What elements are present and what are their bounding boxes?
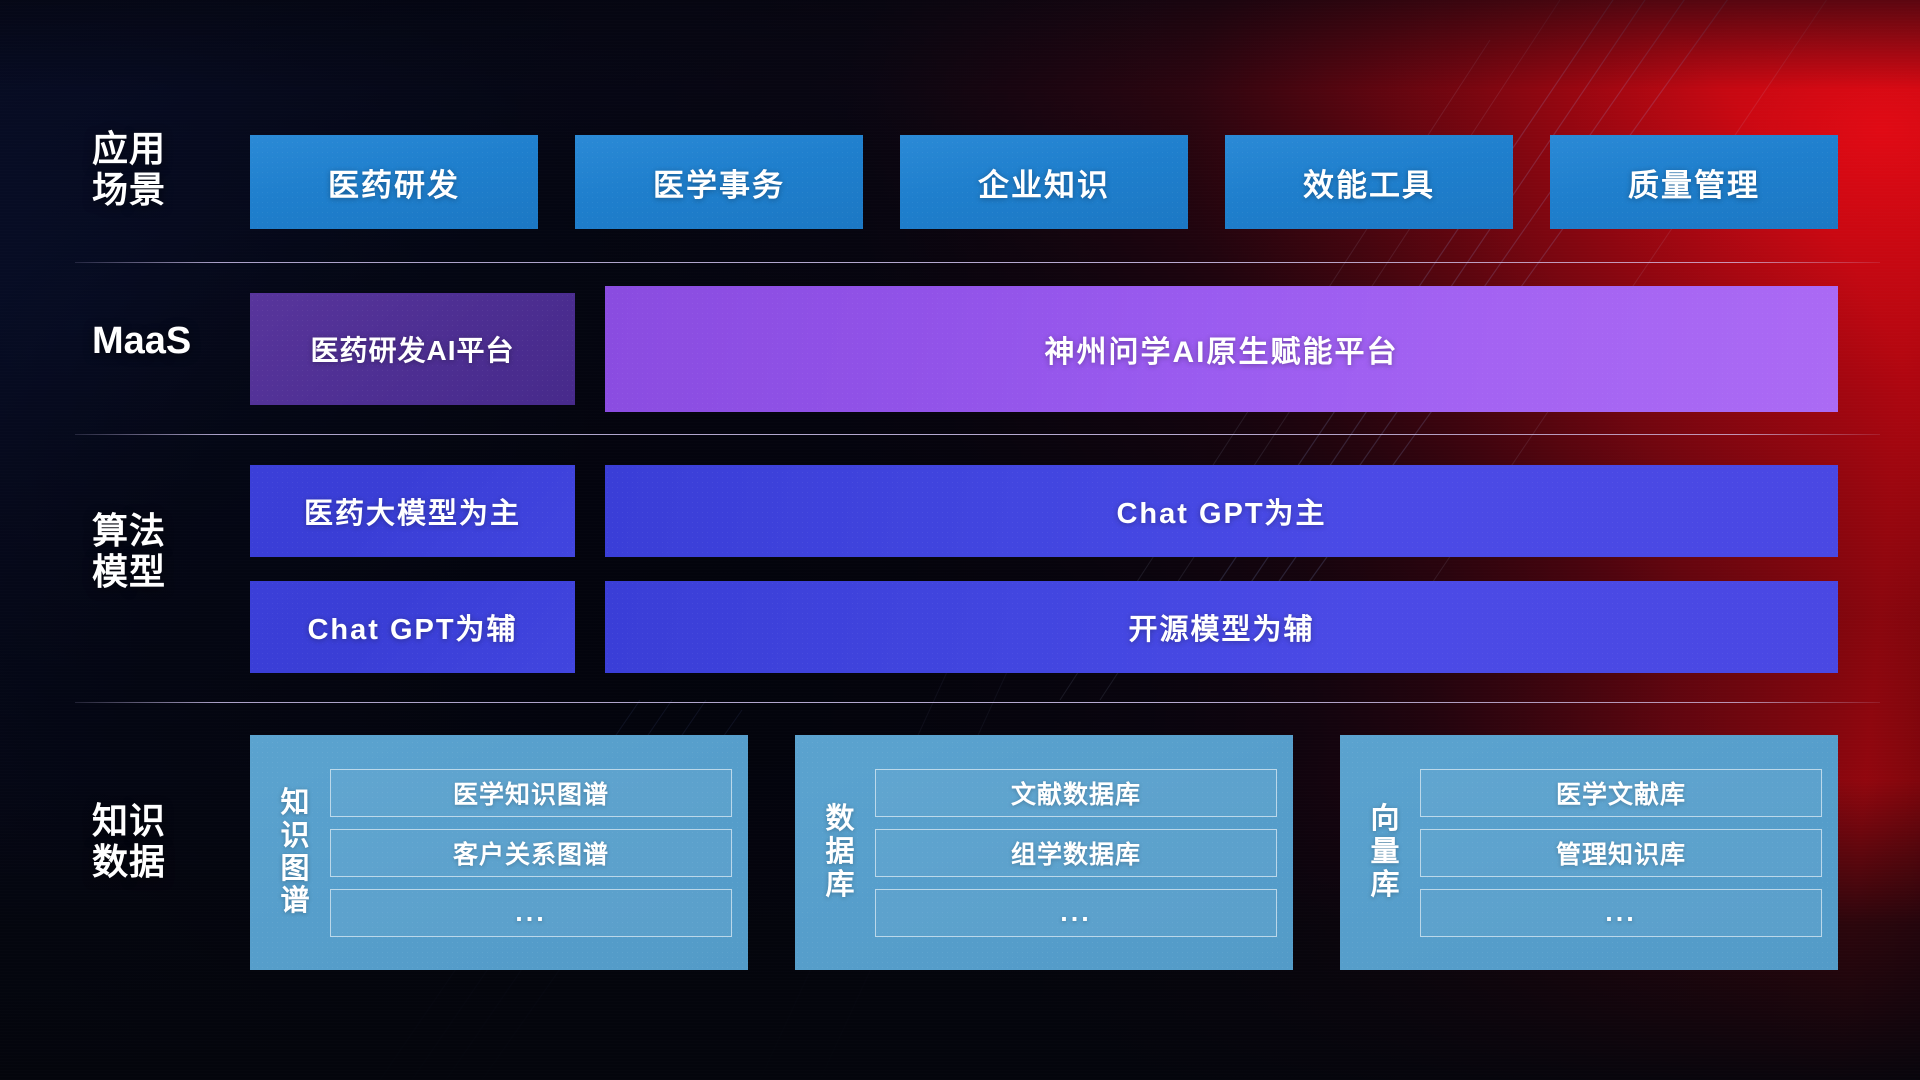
divider-row2-row3: [75, 434, 1880, 435]
row-label-maas-text: MaaS: [92, 320, 272, 363]
knowledge-item-medical-knowledge-graph[interactable]: 医学知识图谱: [330, 769, 732, 817]
diagram-content: 应用 场景 医药研发 医学事务 企业知识 效能工具 质量管理 MaaS 医药研发…: [0, 0, 1920, 1080]
knowledge-group-database-items: 文献数据库 组学数据库 ...: [875, 749, 1277, 956]
scene-card-quality-management-label: 质量管理: [1628, 160, 1760, 205]
knowledge-item-customer-relation-graph-label: 客户关系图谱: [453, 835, 609, 871]
knowledge-item-management-knowledge-db[interactable]: 管理知识库: [1420, 829, 1822, 877]
scene-card-medical-affairs[interactable]: 医学事务: [575, 135, 863, 229]
knowledge-item-medical-knowledge-graph-label: 医学知识图谱: [453, 775, 609, 811]
algo-card-drug-large-model-primary[interactable]: 医药大模型为主: [250, 465, 575, 557]
divider-row1-row2: [75, 262, 1880, 263]
maas-card-shenzhou-wenxue-platform[interactable]: 神州问学AI原生赋能平台: [605, 286, 1838, 412]
knowledge-item-omics-database-label: 组学数据库: [1011, 835, 1141, 871]
knowledge-group-vector-db-title: 向量库: [1364, 803, 1406, 901]
algo-card-chatgpt-secondary-label: Chat GPT为辅: [307, 606, 517, 648]
knowledge-group-vector-db-items: 医学文献库 管理知识库 ...: [1420, 749, 1822, 956]
algo-card-opensource-secondary-label: 开源模型为辅: [1128, 606, 1314, 648]
row-label-application-scenario-line2: 场景: [92, 169, 242, 210]
scene-card-efficiency-tools[interactable]: 效能工具: [1225, 135, 1513, 229]
knowledge-item-vector-db-more-label: ...: [1605, 897, 1637, 928]
row-label-knowledge-data-line1: 知识: [92, 800, 242, 841]
knowledge-item-medical-literature-db[interactable]: 医学文献库: [1420, 769, 1822, 817]
algo-card-drug-large-model-primary-label: 医药大模型为主: [304, 490, 521, 532]
knowledge-group-knowledge-graph-title: 知识图谱: [274, 787, 316, 918]
divider-row3-row4: [75, 702, 1880, 703]
maas-card-drug-rnd-ai-platform-label: 医药研发AI平台: [310, 329, 514, 369]
knowledge-item-medical-literature-db-label: 医学文献库: [1556, 775, 1686, 811]
knowledge-item-database-more-label: ...: [1060, 897, 1092, 928]
knowledge-group-knowledge-graph-items: 医学知识图谱 客户关系图谱 ...: [330, 749, 732, 956]
maas-card-drug-rnd-ai-platform[interactable]: 医药研发AI平台: [250, 293, 575, 405]
scene-card-efficiency-tools-label: 效能工具: [1303, 160, 1435, 205]
knowledge-item-literature-database-label: 文献数据库: [1011, 775, 1141, 811]
scene-card-drug-rnd[interactable]: 医药研发: [250, 135, 538, 229]
knowledge-item-management-knowledge-db-label: 管理知识库: [1556, 835, 1686, 871]
scene-card-quality-management[interactable]: 质量管理: [1550, 135, 1838, 229]
algo-card-chatgpt-primary[interactable]: Chat GPT为主: [605, 465, 1838, 557]
knowledge-group-database[interactable]: 数据库 文献数据库 组学数据库 ...: [795, 735, 1293, 970]
knowledge-group-database-title: 数据库: [819, 803, 861, 901]
knowledge-item-knowledge-graph-more-label: ...: [515, 897, 547, 928]
algo-card-chatgpt-secondary[interactable]: Chat GPT为辅: [250, 581, 575, 673]
scene-card-enterprise-knowledge[interactable]: 企业知识: [900, 135, 1188, 229]
row-label-application-scenario: 应用 场景: [92, 128, 242, 210]
scene-card-drug-rnd-label: 医药研发: [328, 160, 460, 205]
row-label-algorithm-model-line2: 模型: [92, 551, 242, 592]
row-label-maas: MaaS: [92, 320, 272, 363]
row-label-application-scenario-line1: 应用: [92, 128, 242, 169]
row-label-algorithm-model-line1: 算法: [92, 510, 242, 551]
knowledge-item-knowledge-graph-more[interactable]: ...: [330, 889, 732, 937]
knowledge-item-customer-relation-graph[interactable]: 客户关系图谱: [330, 829, 732, 877]
knowledge-item-database-more[interactable]: ...: [875, 889, 1277, 937]
knowledge-item-omics-database[interactable]: 组学数据库: [875, 829, 1277, 877]
scene-card-medical-affairs-label: 医学事务: [653, 160, 785, 205]
knowledge-item-vector-db-more[interactable]: ...: [1420, 889, 1822, 937]
knowledge-group-knowledge-graph[interactable]: 知识图谱 医学知识图谱 客户关系图谱 ...: [250, 735, 748, 970]
row-label-knowledge-data-line2: 数据: [92, 841, 242, 882]
knowledge-item-literature-database[interactable]: 文献数据库: [875, 769, 1277, 817]
row-label-knowledge-data: 知识 数据: [92, 800, 242, 882]
scene-card-enterprise-knowledge-label: 企业知识: [978, 160, 1110, 205]
maas-card-shenzhou-wenxue-platform-label: 神州问学AI原生赋能平台: [1045, 327, 1399, 371]
algo-card-chatgpt-primary-label: Chat GPT为主: [1116, 490, 1326, 532]
row-label-algorithm-model: 算法 模型: [92, 510, 242, 592]
knowledge-group-vector-db[interactable]: 向量库 医学文献库 管理知识库 ...: [1340, 735, 1838, 970]
slide-canvas: 应用 场景 医药研发 医学事务 企业知识 效能工具 质量管理 MaaS 医药研发…: [0, 0, 1920, 1080]
algo-card-opensource-secondary[interactable]: 开源模型为辅: [605, 581, 1838, 673]
